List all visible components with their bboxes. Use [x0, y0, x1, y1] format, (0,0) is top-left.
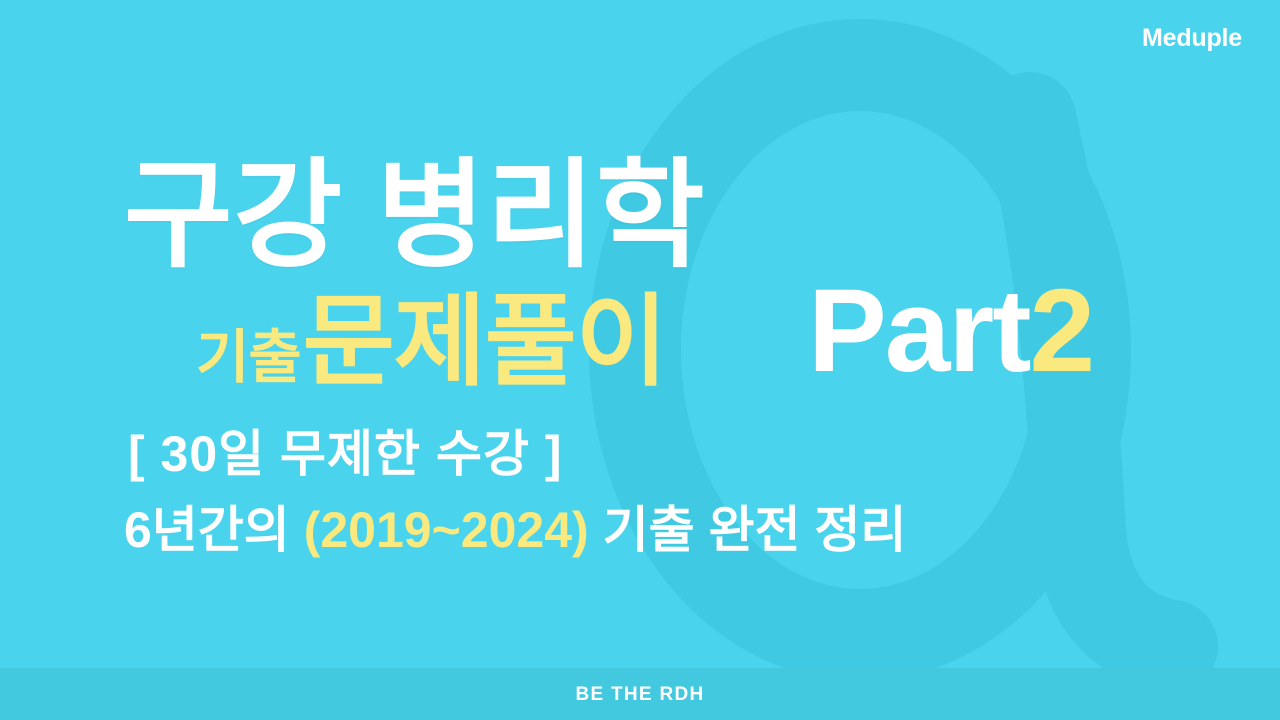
part-badge: Part2 [808, 272, 1093, 390]
coverage-note: 6년간의 (2019~2024) 기출 완전 정리 [124, 500, 906, 560]
thumbnail-canvas: Meduple 구강 병리학 기출 문제풀이 Part2 [ 30일 무제한 수… [0, 0, 1280, 720]
page-title: 구강 병리학 [124, 152, 706, 282]
footer-tagline: BE THE RDH [575, 685, 704, 704]
coverage-year-range: (2019~2024) [304, 502, 589, 558]
brand-logo: Meduple [1142, 26, 1242, 51]
subject-line: 기출 문제풀이 [196, 292, 667, 392]
access-duration-note: [ 30일 무제한 수강 ] [128, 424, 562, 484]
subject-main-label: 문제풀이 [303, 292, 667, 392]
footer-bar: BE THE RDH [0, 668, 1280, 720]
hero-content: 구강 병리학 기출 문제풀이 Part2 [ 30일 무제한 수강 ] 6년간의… [0, 0, 1280, 668]
coverage-prefix: 6년간의 [124, 502, 304, 558]
subject-prefix-label: 기출 [196, 329, 301, 392]
part-word-label: Part [808, 265, 1030, 397]
coverage-suffix: 기출 완전 정리 [589, 502, 907, 558]
part-number-label: 2 [1030, 265, 1094, 397]
